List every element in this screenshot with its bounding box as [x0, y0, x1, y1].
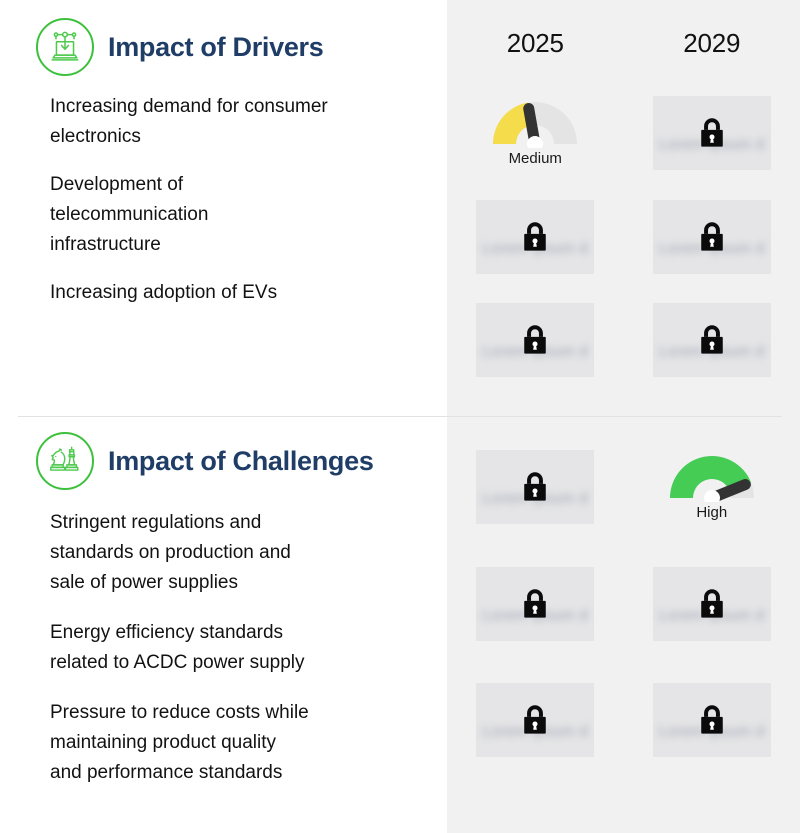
locked-cell[interactable]: Lorem ipsum d [476, 567, 594, 641]
impact-cell[interactable]: Lorem ipsum d [624, 567, 800, 683]
locked-cell[interactable]: Lorem ipsum d [653, 567, 771, 641]
gauge-level-label: Medium [509, 150, 562, 167]
impact-cell[interactable]: Lorem ipsum d [447, 200, 624, 303]
locked-cell[interactable]: Lorem ipsum d [653, 303, 771, 377]
lock-icon [518, 323, 552, 357]
lock-icon [695, 587, 729, 621]
lock-icon [695, 323, 729, 357]
gauge-level-label: High [696, 504, 727, 521]
left-content-column: Impact of Drivers Increasing demand for … [0, 0, 447, 833]
impact-cell[interactable]: Lorem ipsum d [447, 450, 624, 567]
section-challenges-bullets: Stringent regulations and standards on p… [0, 508, 447, 788]
impact-gauge: High [653, 450, 771, 521]
impact-cell[interactable]: Lorem ipsum d [447, 303, 624, 405]
challenges-chess-icon [36, 432, 94, 490]
drivers-laptop-arrow-icon [36, 18, 94, 76]
bullet-item: Pressure to reduce costs while maintaini… [50, 698, 420, 788]
locked-cell[interactable]: Lorem ipsum d [476, 200, 594, 274]
lock-icon [695, 703, 729, 737]
gauge-dial [664, 450, 760, 502]
section-drivers-title: Impact of Drivers [108, 32, 323, 63]
section-challenges-title: Impact of Challenges [108, 446, 374, 477]
column-header-2025: 2025 [447, 22, 624, 64]
bullet-item: Stringent regulations and standards on p… [50, 508, 420, 598]
impact-gauge: Medium [476, 96, 594, 167]
lock-icon [695, 116, 729, 150]
drivers-impact-grid: MediumLorem ipsum dLorem ipsum dLorem ip… [447, 96, 800, 405]
bullet-item: Development of telecommunication infrast… [50, 170, 420, 260]
impact-matrix-root: 2025 2029 [0, 0, 800, 833]
lock-icon [518, 703, 552, 737]
impact-cell[interactable]: Lorem ipsum d [624, 683, 800, 798]
gauge-dial [487, 96, 583, 148]
section-challenges-header: Impact of Challenges [0, 428, 447, 494]
section-drivers: Impact of Drivers Increasing demand for … [0, 14, 447, 326]
impact-cell[interactable]: Lorem ipsum d [447, 683, 624, 798]
year-column-headers: 2025 2029 [447, 22, 800, 64]
section-drivers-header: Impact of Drivers [0, 14, 447, 80]
locked-cell[interactable]: Lorem ipsum d [653, 683, 771, 757]
impact-cell[interactable]: Medium [447, 96, 624, 200]
locked-cell[interactable]: Lorem ipsum d [653, 200, 771, 274]
bullet-item: Increasing demand for consumer electroni… [50, 92, 420, 152]
locked-cell[interactable]: Lorem ipsum d [653, 96, 771, 170]
bullet-item: Increasing adoption of EVs [50, 278, 420, 308]
lock-icon [518, 587, 552, 621]
impact-cell[interactable]: High [624, 450, 800, 567]
lock-icon [518, 220, 552, 254]
impact-cell[interactable]: Lorem ipsum d [624, 96, 800, 200]
locked-cell[interactable]: Lorem ipsum d [476, 303, 594, 377]
challenges-impact-grid: Lorem ipsum dHighLorem ipsum dLorem ipsu… [447, 450, 800, 798]
lock-icon [695, 220, 729, 254]
column-header-2029: 2029 [624, 22, 800, 64]
locked-cell[interactable]: Lorem ipsum d [476, 450, 594, 524]
impact-cell[interactable]: Lorem ipsum d [447, 567, 624, 683]
lock-icon [518, 470, 552, 504]
bullet-item: Energy efficiency standards related to A… [50, 618, 420, 678]
section-drivers-bullets: Increasing demand for consumer electroni… [0, 92, 447, 308]
impact-cell[interactable]: Lorem ipsum d [624, 200, 800, 303]
locked-cell[interactable]: Lorem ipsum d [476, 683, 594, 757]
section-challenges: Impact of Challenges Stringent regulatio… [0, 428, 447, 808]
impact-cell[interactable]: Lorem ipsum d [624, 303, 800, 405]
